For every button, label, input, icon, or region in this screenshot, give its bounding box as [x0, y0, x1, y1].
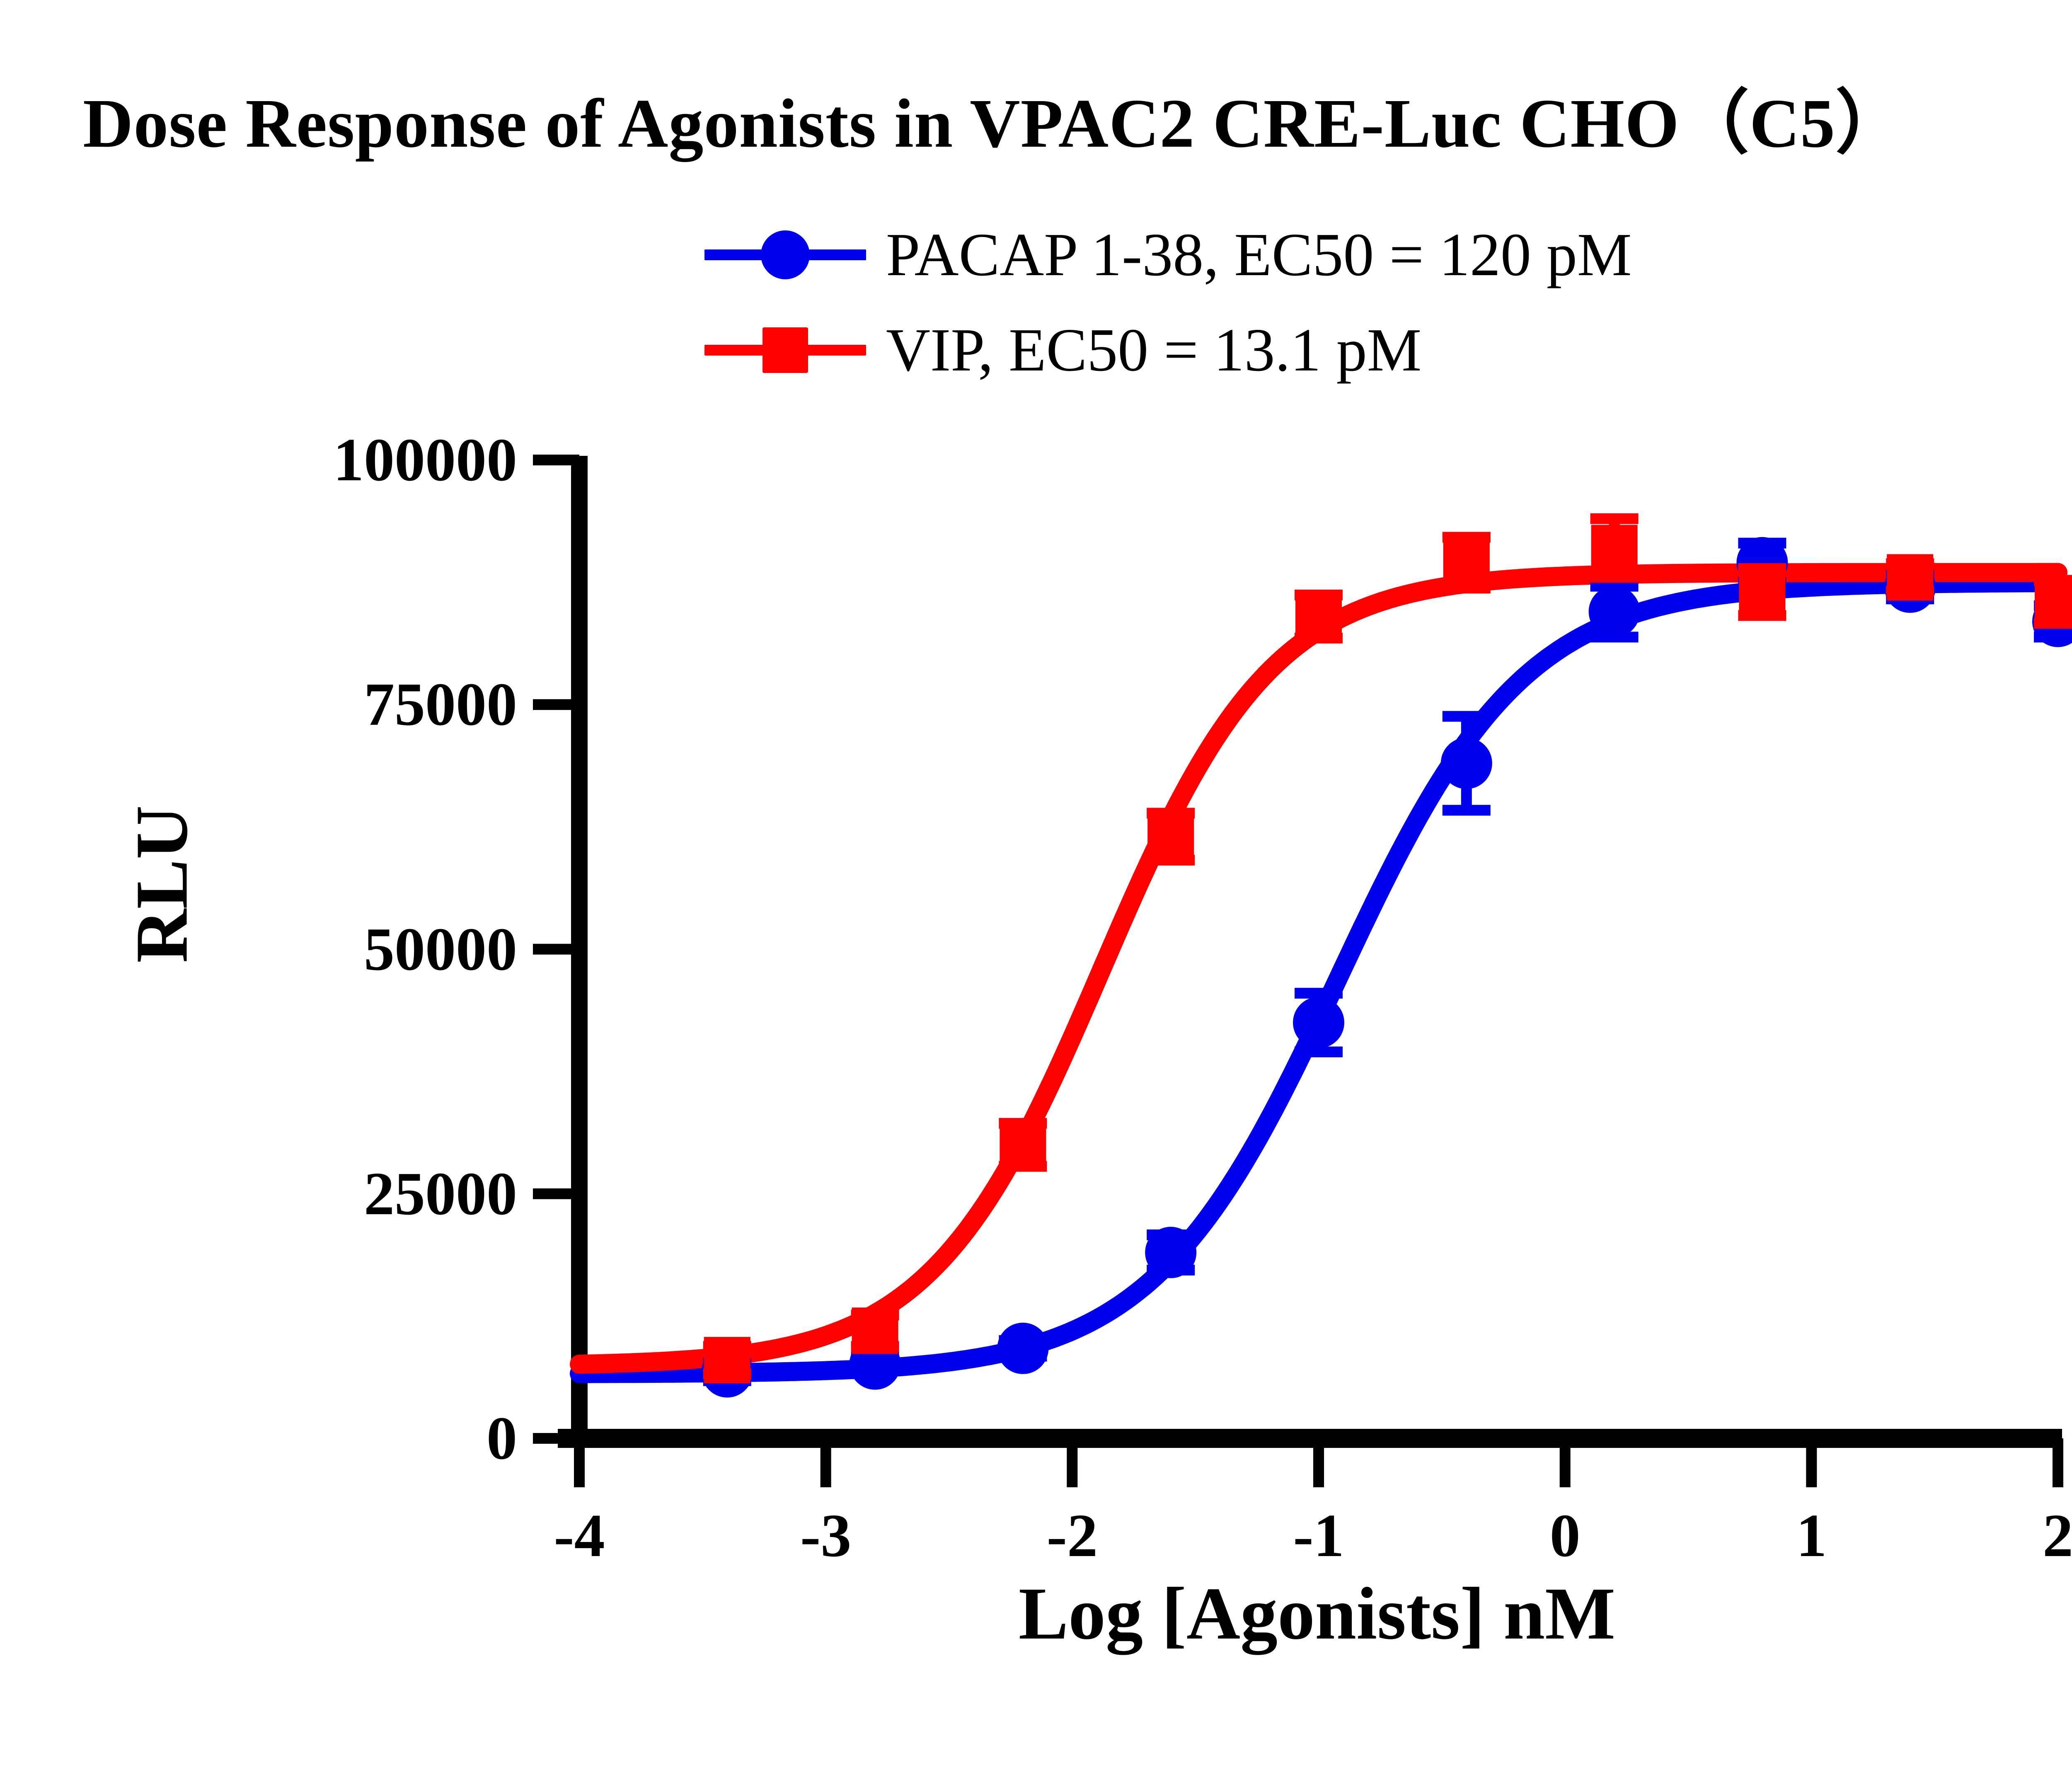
- x-tick-label--3: -3: [800, 1501, 851, 1571]
- datapoint-vip-9[interactable]: [2035, 579, 2072, 625]
- x-tick-label-0: 0: [1550, 1501, 1581, 1571]
- chart-canvas: Dose Response of Agonists in VPAC2 CRE-L…: [0, 0, 2072, 1767]
- datapoint-pacap-1-38-6[interactable]: [1589, 586, 1640, 637]
- datapoint-vip-5[interactable]: [1443, 540, 1490, 586]
- datapoint-vip-6[interactable]: [1591, 525, 1638, 571]
- x-tick-label--2: -2: [1047, 1501, 1098, 1571]
- y-tick-label-25000: 25000: [124, 1159, 517, 1229]
- y-tick-label-0: 0: [124, 1403, 517, 1474]
- datapoint-pacap-1-38-3[interactable]: [1145, 1227, 1196, 1278]
- curve-pacap-1-38: [579, 583, 2058, 1374]
- datapoint-pacap-1-38-5[interactable]: [1441, 738, 1492, 789]
- datapoint-vip-0[interactable]: [704, 1337, 750, 1383]
- datapoint-pacap-1-38-4[interactable]: [1293, 997, 1344, 1048]
- x-tick-label-1: 1: [1796, 1501, 1827, 1571]
- y-axis-title: RLU: [119, 698, 205, 1071]
- datapoint-vip-2[interactable]: [1000, 1122, 1046, 1168]
- curve-vip: [579, 573, 2058, 1365]
- y-tick-label-50000: 50000: [124, 914, 517, 985]
- x-tick-label-2: 2: [2043, 1501, 2072, 1571]
- y-tick-label-100000: 100000: [124, 425, 517, 495]
- plot-svg: [0, 0, 2072, 1767]
- y-tick-label-75000: 75000: [124, 669, 517, 740]
- datapoint-vip-1[interactable]: [852, 1307, 898, 1354]
- datapoint-vip-4[interactable]: [1295, 593, 1342, 640]
- x-tick-label--4: -4: [554, 1501, 605, 1571]
- datapoint-vip-8[interactable]: [1887, 554, 1933, 600]
- datapoint-vip-7[interactable]: [1739, 569, 1785, 615]
- datapoint-pacap-1-38-2[interactable]: [997, 1323, 1048, 1374]
- plot-area: [0, 0, 2072, 1767]
- x-axis-title: Log [Agonists] nM: [579, 1571, 2055, 1656]
- datapoint-vip-3[interactable]: [1147, 813, 1194, 860]
- x-tick-label--1: -1: [1293, 1501, 1344, 1571]
